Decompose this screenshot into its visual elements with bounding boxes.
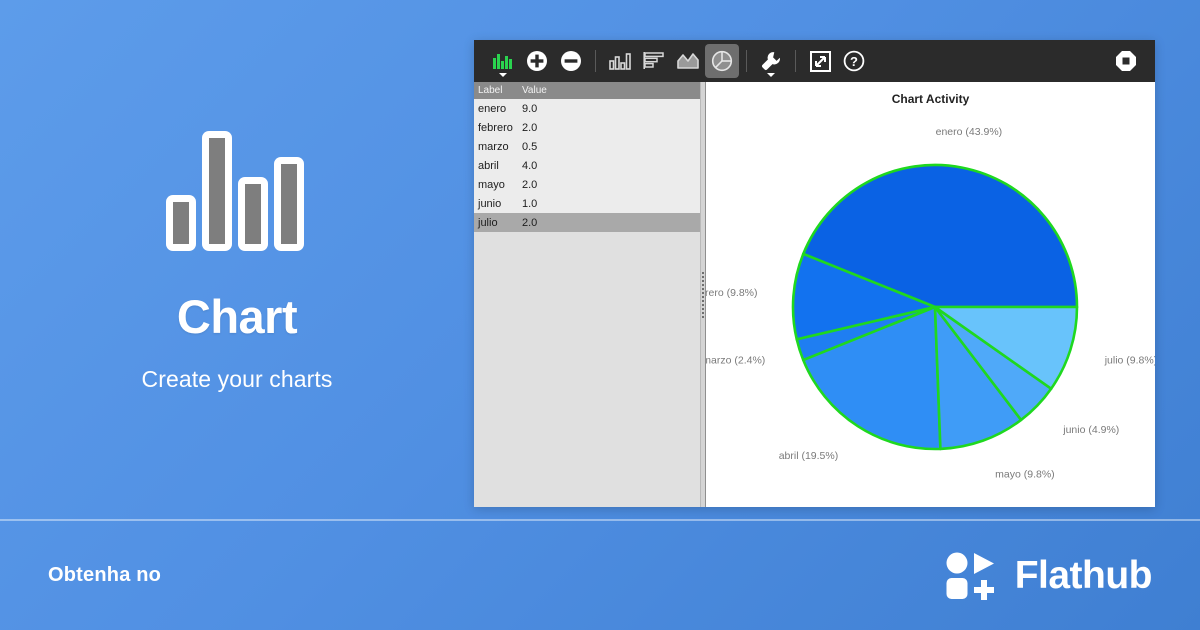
table-cell-label: febrero: [474, 122, 520, 134]
chevron-down-icon: [499, 73, 507, 77]
table-cell-label: enero: [474, 103, 520, 115]
app-window-screenshot: ? Label Value enero9.0febrero2.0marzo0.5…: [474, 40, 1155, 507]
pie-chart-icon[interactable]: [705, 44, 739, 78]
footer: Obtenha no Flathub: [0, 521, 1200, 630]
table-cell-label: marzo: [474, 141, 520, 153]
stop-record-icon[interactable]: [1109, 44, 1143, 78]
data-table-pane: Label Value enero9.0febrero2.0marzo0.5ab…: [474, 82, 700, 507]
wrench-icon[interactable]: [754, 44, 788, 78]
column-header-value[interactable]: Value: [520, 85, 547, 96]
table-row[interactable]: enero9.0: [474, 99, 700, 118]
table-cell-value: 4.0: [520, 160, 537, 172]
table-rows: enero9.0febrero2.0marzo0.5abril4.0mayo2.…: [474, 99, 700, 232]
pie-slice-label: febrero (9.8%): [706, 287, 758, 299]
table-row[interactable]: febrero2.0: [474, 118, 700, 137]
table-row[interactable]: marzo0.5: [474, 137, 700, 156]
flathub-brand[interactable]: Flathub: [946, 552, 1152, 600]
table-cell-value: 9.0: [520, 103, 537, 115]
help-icon[interactable]: ?: [837, 44, 871, 78]
flathub-mark-icon: [946, 552, 998, 600]
table-cell-label: mayo: [474, 179, 520, 191]
table-row[interactable]: julio2.0: [474, 213, 700, 232]
table-row[interactable]: mayo2.0: [474, 175, 700, 194]
table-row[interactable]: abril4.0: [474, 156, 700, 175]
fullscreen-icon[interactable]: [803, 44, 837, 78]
add-icon[interactable]: [520, 44, 554, 78]
toolbar-separator: [746, 50, 747, 72]
pie-chart-svg: enero (43.9%)febrero (9.8%)marzo (2.4%)a…: [706, 82, 1155, 507]
app-toolbar: ?: [474, 40, 1155, 82]
table-row[interactable]: junio1.0: [474, 194, 700, 213]
chart-type-bars-icon[interactable]: [486, 44, 520, 78]
brand-panel: Chart Create your charts: [0, 0, 474, 519]
pie-slice-label: julio (9.8%): [1104, 354, 1155, 366]
column-chart-icon[interactable]: [603, 44, 637, 78]
table-cell-value: 2.0: [520, 217, 537, 229]
flathub-wordmark: Flathub: [1015, 554, 1152, 598]
pie-slice-label: junio (4.9%): [1062, 424, 1119, 436]
pie-slice-label: abril (19.5%): [779, 450, 839, 462]
table-cell-value: 2.0: [520, 122, 537, 134]
get-it-on-label: Obtenha no: [48, 564, 161, 587]
table-cell-label: julio: [474, 217, 520, 229]
splitter-grip-icon: [702, 272, 704, 318]
page-title: Chart: [177, 293, 297, 340]
chevron-down-icon: [767, 73, 775, 77]
area-chart-icon[interactable]: [671, 44, 705, 78]
table-empty-area: [474, 232, 700, 507]
table-cell-value: 0.5: [520, 141, 537, 153]
toolbar-separator: [595, 50, 596, 72]
table-cell-label: junio: [474, 198, 520, 210]
bar-chart-logo-icon: [162, 127, 312, 255]
svg-text:?: ?: [850, 54, 858, 69]
pie-slice-label: enero (43.9%): [936, 126, 1003, 138]
pie-slice-label: mayo (9.8%): [995, 468, 1055, 480]
table-cell-label: abril: [474, 160, 520, 172]
bar-chart-icon[interactable]: [637, 44, 671, 78]
table-cell-value: 2.0: [520, 179, 537, 191]
pie-slice-label: marzo (2.4%): [706, 354, 765, 366]
table-cell-value: 1.0: [520, 198, 537, 210]
pie-chart: enero (43.9%)febrero (9.8%)marzo (2.4%)a…: [706, 82, 1155, 507]
remove-icon[interactable]: [554, 44, 588, 78]
toolbar-separator: [795, 50, 796, 72]
chart-canvas: Chart Activity enero (43.9%)febrero (9.8…: [706, 82, 1155, 507]
column-header-label[interactable]: Label: [474, 85, 520, 96]
app-tagline: Create your charts: [142, 366, 333, 393]
app-body: Label Value enero9.0febrero2.0marzo0.5ab…: [474, 82, 1155, 507]
table-header-row: Label Value: [474, 82, 700, 99]
